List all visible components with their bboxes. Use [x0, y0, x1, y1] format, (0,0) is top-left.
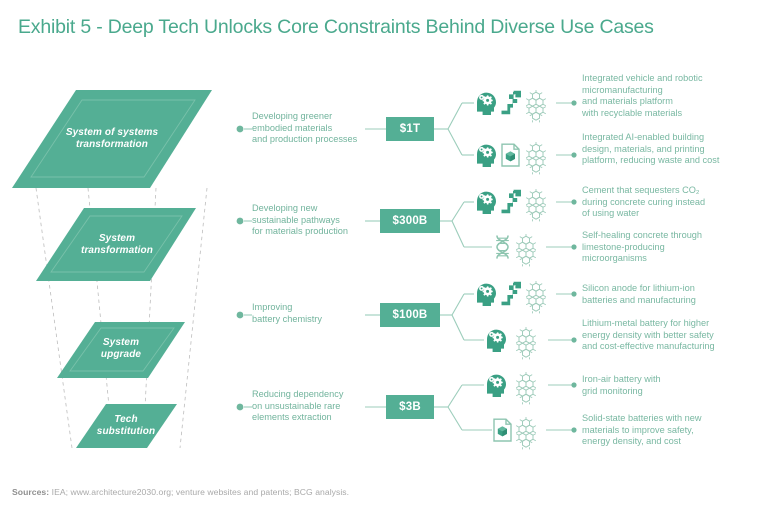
value-boxes [380, 117, 440, 419]
ai-head-icon [477, 284, 496, 306]
ai-head-icon [487, 330, 506, 352]
ai-head-icon [477, 145, 496, 167]
dna-helix-icon [497, 236, 509, 258]
constraint-text-2: Developing new sustainable pathways for … [252, 203, 372, 238]
pyramid-layer-label-3: System upgrade [66, 337, 176, 361]
robot-arm-icon [502, 283, 520, 305]
icon-group-2-1 [477, 189, 546, 221]
honeycomb-material-icon [516, 372, 536, 404]
3d-print-document-icon [502, 144, 519, 166]
icon-group-4-1 [487, 372, 536, 404]
sources-text: IEA; www.architecture2030.org; venture w… [49, 487, 349, 497]
value-label-4: $3B [386, 395, 434, 419]
icon-group-1-2 [477, 142, 546, 174]
ai-head-icon [477, 192, 496, 214]
honeycomb-material-icon [516, 417, 536, 449]
robot-arm-icon [502, 92, 520, 114]
pyramid-layer-label-4: Tech substitution [74, 414, 178, 438]
honeycomb-material-icon [516, 234, 536, 266]
ai-head-icon [487, 375, 506, 397]
usecase-text-4-2: Solid-state batteries with new materials… [582, 413, 768, 448]
icon-group-3-1 [477, 281, 546, 313]
constraint-text-4: Reducing dependency on unsustainable rar… [252, 389, 372, 424]
sources-label: Sources: [12, 487, 49, 497]
icon-group-2-2 [497, 234, 536, 266]
constraint-text-1: Developing greener embodied materials an… [252, 111, 372, 146]
pyramid-layer-label-2: System transformation [58, 233, 176, 257]
ai-head-icon [477, 93, 496, 115]
pyramid-layer-label-1: System of systems transformation [48, 127, 176, 151]
3d-print-document-icon [494, 419, 511, 441]
constraint-text-3: Improving battery chemistry [252, 302, 372, 325]
icon-group-4-2 [494, 417, 536, 449]
usecase-text-4-1: Iron-air battery with grid monitoring [582, 374, 768, 397]
value-label-3: $100B [380, 303, 440, 327]
usecase-text-2-2: Self-healing concrete through limestone-… [582, 230, 768, 265]
honeycomb-material-icon [526, 142, 546, 174]
icon-group-1-1 [477, 90, 546, 122]
exhibit-canvas: Exhibit 5 - Deep Tech Unlocks Core Const… [0, 0, 768, 525]
robot-arm-icon [502, 191, 520, 213]
value-label-1: $1T [386, 117, 434, 141]
honeycomb-material-icon [526, 189, 546, 221]
honeycomb-material-icon [516, 327, 536, 359]
usecase-text-1-2: Integrated AI-enabled building design, m… [582, 132, 768, 167]
honeycomb-material-icon [526, 281, 546, 313]
value-label-2: $300B [380, 209, 440, 233]
icon-group-3-2 [487, 327, 536, 359]
usecase-text-1-1: Integrated vehicle and robotic micromanu… [582, 73, 768, 119]
usecase-text-3-2: Lithium-metal battery for higher energy … [582, 318, 768, 353]
sources-note: Sources: IEA; www.architecture2030.org; … [12, 487, 349, 497]
usecase-text-3-1: Silicon anode for lithium-ion batteries … [582, 283, 768, 306]
honeycomb-material-icon [526, 90, 546, 122]
usecase-text-2-1: Cement that sequesters CO₂ during concre… [582, 185, 768, 220]
